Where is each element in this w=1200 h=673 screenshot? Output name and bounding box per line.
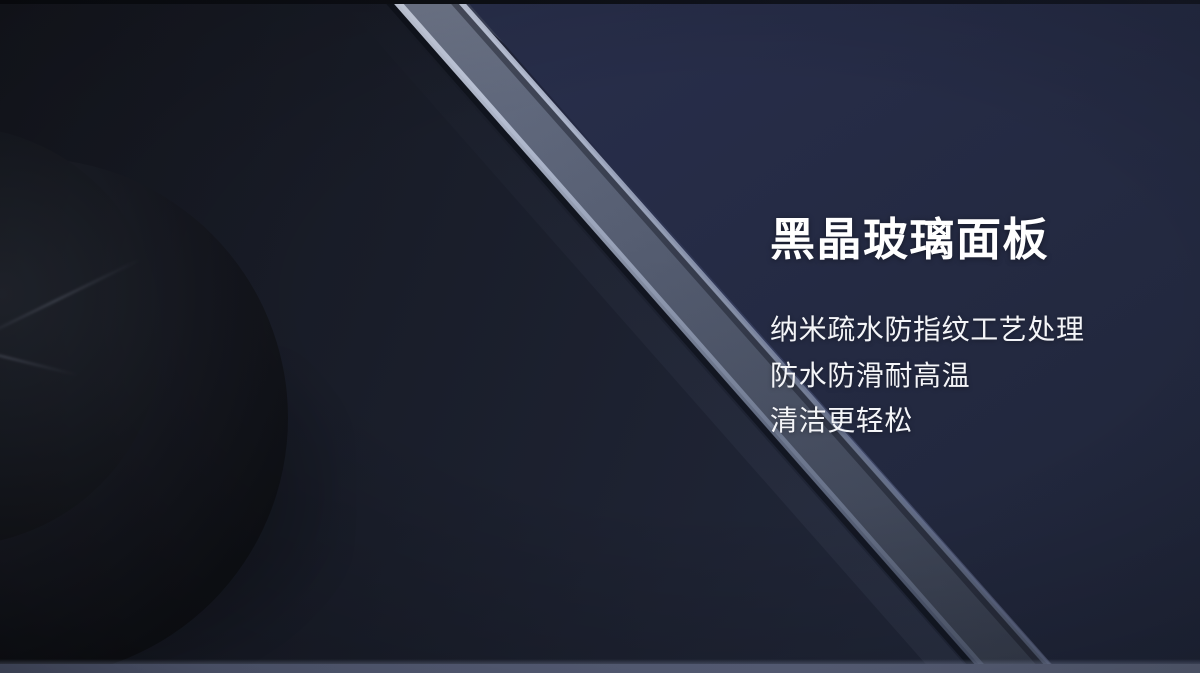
subcopy-line-1: 纳米疏水防指纹工艺处理	[770, 307, 1170, 352]
subcopy-line-3: 清洁更轻松	[770, 398, 1170, 443]
copy-block: 黑晶玻璃面板 纳米疏水防指纹工艺处理 防水防滑耐高温 清洁更轻松	[770, 215, 1170, 443]
top-edge-strip	[0, 0, 1200, 4]
product-feature-banner: 黑晶玻璃面板 纳米疏水防指纹工艺处理 防水防滑耐高温 清洁更轻松	[0, 0, 1200, 673]
subcopy-list: 纳米疏水防指纹工艺处理 防水防滑耐高温 清洁更轻松	[770, 265, 1170, 443]
headline: 黑晶玻璃面板	[770, 215, 1170, 265]
subcopy-line-2: 防水防滑耐高温	[770, 353, 1170, 398]
bottom-edge-strip	[0, 664, 1200, 673]
